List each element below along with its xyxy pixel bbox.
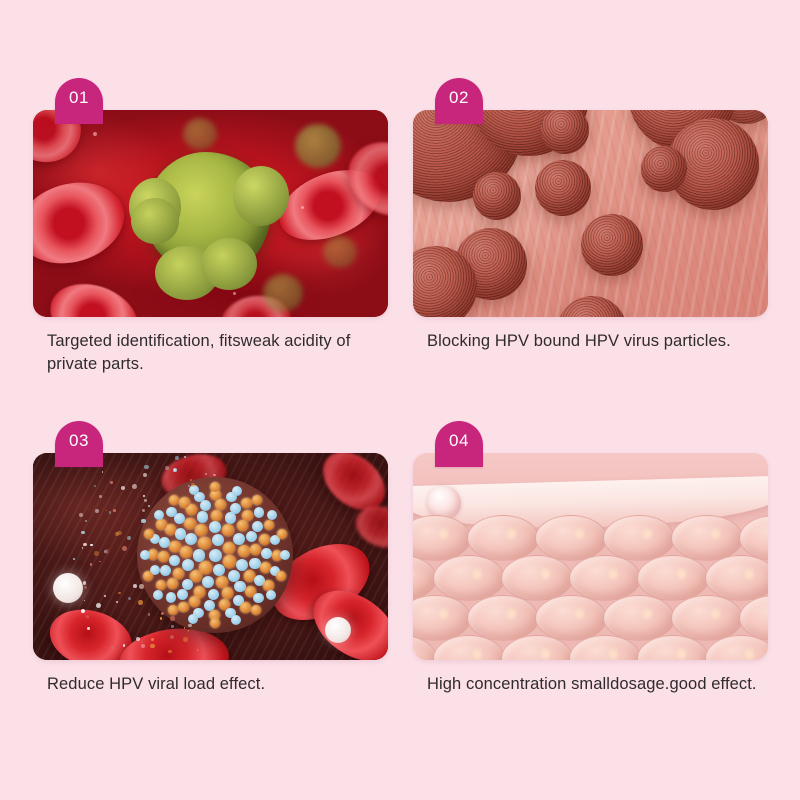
cell-highlight (507, 609, 515, 619)
capsomere (180, 546, 192, 558)
capsomere (280, 550, 290, 560)
scene-hpv-spheres (413, 110, 768, 317)
burst-particle (175, 456, 179, 460)
burst-particle (81, 531, 85, 535)
capsomere (204, 600, 215, 611)
burst-particle (96, 603, 101, 608)
feature-image-03 (33, 453, 388, 660)
capsomere (252, 495, 262, 505)
cell-highlight (609, 649, 617, 659)
burst-particle (94, 485, 96, 487)
burst-particle (213, 474, 215, 476)
burst-particle (94, 551, 98, 555)
hpv-sphere (473, 172, 521, 220)
skin-cell (501, 555, 573, 601)
burst-particle (111, 646, 114, 649)
cell-highlight (643, 529, 651, 539)
capsomere (197, 511, 209, 523)
skin-cell (413, 595, 471, 641)
capsomere (159, 537, 170, 548)
cell-highlight (541, 569, 549, 579)
background-virus (295, 124, 341, 168)
feature-grid: 01 Targete (0, 0, 800, 800)
capsomere (182, 559, 194, 571)
capsomere (208, 589, 220, 601)
capsomere (179, 497, 190, 508)
capsomere (276, 571, 286, 581)
skin-cell (413, 515, 471, 561)
step-badge-03: 03 (55, 421, 103, 467)
capsomere (169, 555, 181, 567)
burst-particle (118, 592, 120, 594)
green-virus-lobe (131, 198, 179, 244)
capsomere (253, 593, 264, 604)
skin-cell (671, 515, 743, 561)
capsomere (250, 544, 262, 556)
capsomere (209, 521, 221, 533)
feature-caption-04: High concentration smalldosage.good effe… (427, 673, 779, 696)
burst-particle (144, 499, 147, 502)
capsomere (222, 524, 234, 536)
capsomere (230, 503, 241, 514)
capsomere (167, 578, 178, 589)
speck (233, 292, 236, 295)
speck (93, 132, 97, 136)
capsomere (189, 596, 200, 607)
capsomere (232, 486, 242, 496)
capsomere (166, 507, 177, 518)
skin-cell (467, 595, 539, 641)
burst-particle (171, 625, 173, 627)
burst-particle (141, 641, 143, 643)
burst-particle (143, 495, 144, 496)
feature-caption-02: Blocking HPV bound HPV virus particles. (427, 330, 779, 353)
capsomere (266, 590, 276, 600)
capsomere (254, 507, 265, 518)
cell-highlight (711, 529, 719, 539)
capsomere (211, 510, 223, 522)
capsomere (140, 550, 150, 560)
capsomere (166, 592, 177, 603)
cell-highlight (507, 529, 515, 539)
capsomere (184, 518, 196, 530)
cell-highlight (473, 649, 481, 659)
capsomere (209, 549, 222, 562)
skin-cell (569, 555, 641, 601)
feature-image-04 (413, 453, 768, 660)
capsomere (277, 529, 287, 539)
burst-particle (138, 600, 142, 604)
skin-cell (705, 555, 768, 601)
cell-highlight (541, 649, 549, 659)
capsomere (241, 498, 252, 509)
capsomere (242, 510, 253, 521)
capsomere (240, 602, 251, 613)
burst-particle (148, 613, 150, 615)
speck (301, 206, 304, 209)
feature-image-02 (413, 110, 768, 317)
cell-highlight (439, 529, 447, 539)
capsomere (160, 565, 171, 576)
burst-particle (90, 544, 93, 547)
capsomere (210, 618, 220, 628)
green-virus-lobe (201, 238, 257, 290)
cell-highlight (745, 649, 753, 659)
hpv-capsid (137, 477, 293, 633)
cell-highlight (473, 569, 481, 579)
capsomere (169, 495, 179, 505)
white-blood-cell (53, 573, 83, 603)
capsomere (144, 529, 154, 539)
burst-particle (139, 584, 144, 589)
capsomere (178, 602, 189, 613)
burst-particle (81, 609, 85, 613)
scene-viral-load (33, 453, 388, 660)
skin-cell (637, 555, 709, 601)
cell-highlight (439, 609, 447, 619)
capsomere (236, 559, 248, 571)
cell-highlight (711, 609, 719, 619)
hpv-sphere (535, 160, 591, 216)
skin-cell-layer (413, 515, 768, 660)
burst-particle (83, 543, 86, 546)
capsomere (222, 587, 234, 599)
capsomere (175, 528, 187, 540)
capsomere (259, 534, 270, 545)
capsomere (202, 576, 214, 588)
capsomere (231, 615, 241, 625)
capsomere (177, 589, 188, 600)
capsomere (185, 533, 197, 545)
cell-highlight (609, 569, 617, 579)
burst-particle (110, 481, 113, 484)
capsomere (252, 521, 263, 532)
capsomere (261, 548, 272, 559)
hpv-sphere (581, 214, 643, 276)
burst-particle (148, 505, 150, 507)
burst-particle (123, 644, 126, 647)
burst-particle (188, 485, 190, 487)
burst-particle (113, 509, 116, 512)
cell-highlight (575, 609, 583, 619)
skin-cell (535, 515, 607, 561)
burst-particle (170, 635, 174, 639)
cell-highlight (413, 569, 414, 579)
step-badge-02: 02 (435, 78, 483, 124)
feature-image-01 (33, 110, 388, 317)
capsomere (251, 605, 261, 615)
background-virus (323, 236, 357, 268)
scene-blood-green-virus (33, 110, 388, 317)
burst-particle (136, 637, 140, 641)
capsomere (215, 499, 226, 510)
capsomere (169, 541, 181, 553)
capsomere (212, 534, 225, 547)
capsomere (143, 571, 153, 581)
feature-caption-03: Reduce HPV viral load effect. (47, 673, 399, 696)
burst-particle (183, 637, 188, 642)
capsomere (225, 512, 237, 524)
burst-particle (117, 531, 121, 535)
capsomere (198, 537, 211, 550)
capsomere (158, 551, 169, 562)
scene-skin-cross-section (413, 453, 768, 660)
capsomere (267, 510, 277, 520)
capsomere (168, 605, 178, 615)
burst-particle (191, 483, 195, 487)
capsomere (195, 524, 207, 536)
skin-cell (603, 515, 675, 561)
step-badge-04: 04 (435, 421, 483, 467)
white-blood-cell (325, 617, 351, 643)
burst-particle (188, 624, 192, 628)
burst-particle (141, 519, 145, 523)
capsomere (223, 555, 236, 568)
burst-particle (144, 465, 149, 470)
skin-cell (467, 515, 539, 561)
cell-highlight (677, 649, 685, 659)
burst-particle (170, 616, 174, 620)
capsomere (237, 520, 249, 532)
capsomere (238, 545, 250, 557)
capsomere (233, 533, 245, 545)
cell-highlight (413, 649, 414, 659)
burst-particle (105, 549, 110, 554)
skin-cell (603, 595, 675, 641)
capsomere (213, 564, 226, 577)
cell-highlight (745, 569, 753, 579)
capsomere (264, 520, 275, 531)
background-virus (263, 274, 303, 312)
burst-particle (122, 546, 127, 551)
capsomere (263, 580, 274, 591)
capsomere (156, 519, 167, 530)
capsomere (193, 549, 206, 562)
capsomere (188, 614, 198, 624)
step-badge-01: 01 (55, 78, 103, 124)
skin-cell (671, 595, 743, 641)
capsomere (223, 542, 236, 555)
burst-particle (132, 484, 137, 489)
feature-caption-01: Targeted identification, fitsweak acidit… (47, 330, 399, 377)
capsomere (153, 590, 163, 600)
capsomere (154, 510, 164, 520)
cell-highlight (575, 529, 583, 539)
burst-particle (161, 612, 164, 615)
cell-highlight (677, 569, 685, 579)
skin-cell (433, 555, 505, 601)
skin-cell (535, 595, 607, 641)
burst-particle (165, 466, 169, 470)
capsomere (246, 531, 258, 543)
cell-highlight (643, 609, 651, 619)
hpv-sphere (641, 146, 687, 192)
background-virus (183, 118, 217, 150)
capsomere (156, 580, 167, 591)
